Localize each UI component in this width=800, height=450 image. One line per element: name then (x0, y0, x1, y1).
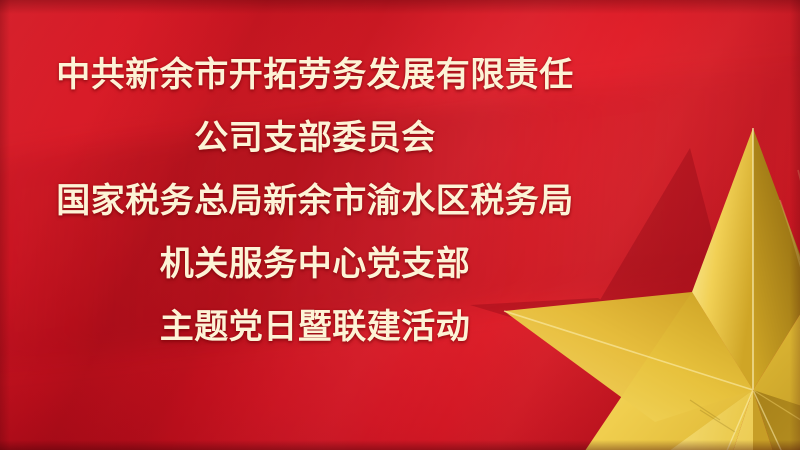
headline-line-1: 中共新余市开拓劳务发展有限责任 (0, 44, 630, 107)
headline-line-5: 主题党日暨联建活动 (0, 296, 630, 359)
headline-line-3: 国家税务总局新余市渝水区税务局 (0, 170, 630, 233)
headline-line-2: 公司支部委员会 (0, 107, 630, 170)
headline-block: 中共新余市开拓劳务发展有限责任 公司支部委员会 国家税务总局新余市渝水区税务局 … (0, 44, 630, 359)
event-banner: 中共新余市开拓劳务发展有限责任 公司支部委员会 国家税务总局新余市渝水区税务局 … (0, 0, 800, 450)
headline-line-4: 机关服务中心党支部 (0, 233, 630, 296)
